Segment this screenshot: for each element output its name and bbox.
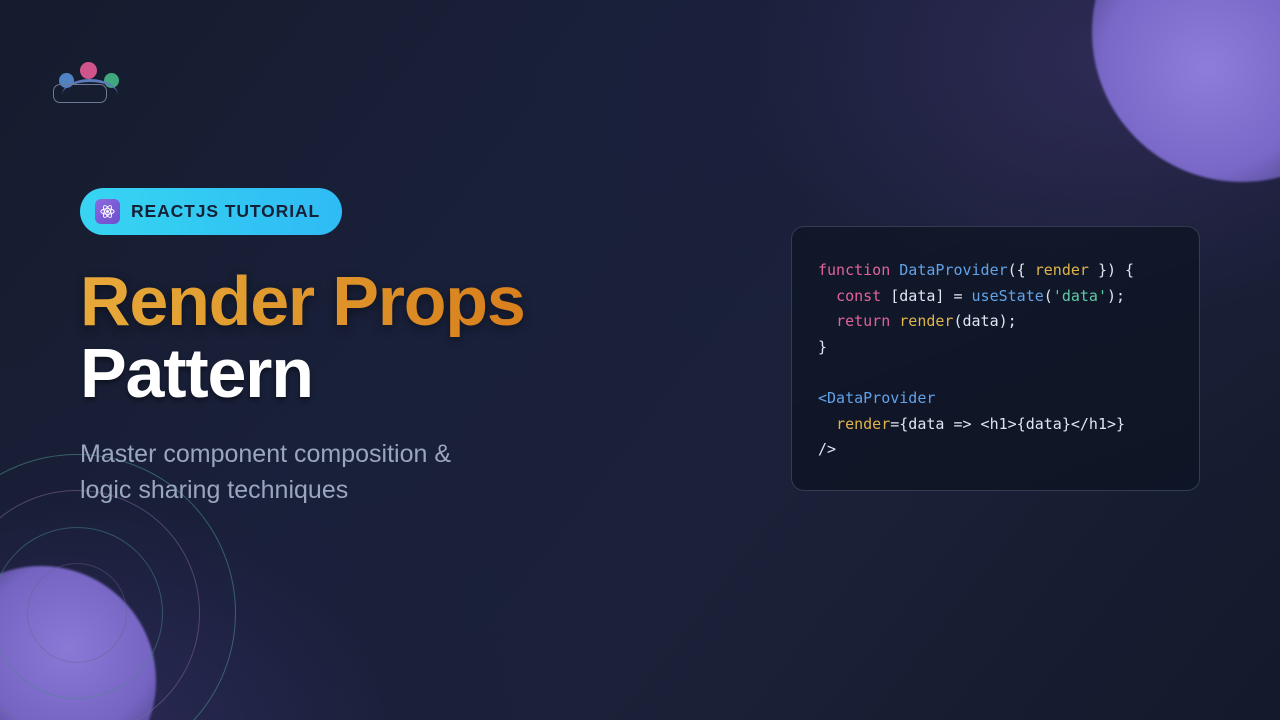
page-title: Render Props Pattern xyxy=(80,265,720,409)
presentation-slide: REACTJS TUTORIAL Render Props Pattern Ma… xyxy=(0,0,1280,720)
code-token: <DataProvider xyxy=(818,389,935,407)
code-line: render={data => <h1>{data}</h1>} xyxy=(818,412,1173,438)
code-line: function DataProvider({ render }) { xyxy=(818,258,1173,284)
code-token: ( xyxy=(1044,287,1053,305)
code-line: <DataProvider xyxy=(818,386,1173,412)
react-atom-icon xyxy=(95,199,120,224)
page-subtitle-line-1: Master component composition & xyxy=(80,436,550,472)
code-token: render xyxy=(1035,261,1089,279)
top-right-glow-decoration xyxy=(1092,0,1280,182)
code-line: /> xyxy=(818,437,1173,463)
code-token: /> xyxy=(818,440,836,458)
code-token xyxy=(818,415,836,433)
code-token: DataProvider xyxy=(899,261,1007,279)
code-token: function xyxy=(818,261,899,279)
page-title-line-2: Pattern xyxy=(80,337,720,409)
brand-logo xyxy=(53,52,153,104)
code-token: }) { xyxy=(1089,261,1134,279)
code-token xyxy=(818,312,836,330)
code-token: render xyxy=(899,312,953,330)
category-badge-label: REACTJS TUTORIAL xyxy=(131,201,320,222)
page-title-line-1: Render Props xyxy=(80,265,720,337)
code-token xyxy=(890,312,899,330)
code-snippet-body: function DataProvider({ render }) { cons… xyxy=(818,258,1173,463)
code-line: } xyxy=(818,335,1173,361)
code-token: [data] = xyxy=(881,287,971,305)
code-token: } xyxy=(818,338,827,356)
code-line xyxy=(818,360,1173,386)
page-subtitle-line-2: logic sharing techniques xyxy=(80,472,550,508)
slide-content: REACTJS TUTORIAL Render Props Pattern Ma… xyxy=(80,188,720,508)
code-token: const xyxy=(836,287,881,305)
code-snippet-panel: function DataProvider({ render }) { cons… xyxy=(791,226,1200,491)
category-badge: REACTJS TUTORIAL xyxy=(80,188,342,235)
code-line: const [data] = useState('data'); xyxy=(818,284,1173,310)
page-subtitle: Master component composition & logic sha… xyxy=(80,436,550,508)
logo-dot-pink-icon xyxy=(80,62,97,79)
code-token: ({ xyxy=(1008,261,1035,279)
code-line: return render(data); xyxy=(818,309,1173,335)
code-token: ); xyxy=(1107,287,1125,305)
code-token: ={data => <h1>{data}</h1>} xyxy=(890,415,1125,433)
code-token xyxy=(818,287,836,305)
code-token: (data); xyxy=(953,312,1016,330)
code-token: useState xyxy=(972,287,1044,305)
code-token: return xyxy=(836,312,890,330)
logo-base-bar-icon xyxy=(53,84,107,103)
code-token: render xyxy=(836,415,890,433)
code-token: 'data' xyxy=(1053,287,1107,305)
ring-core xyxy=(27,563,127,663)
code-token xyxy=(818,363,827,381)
